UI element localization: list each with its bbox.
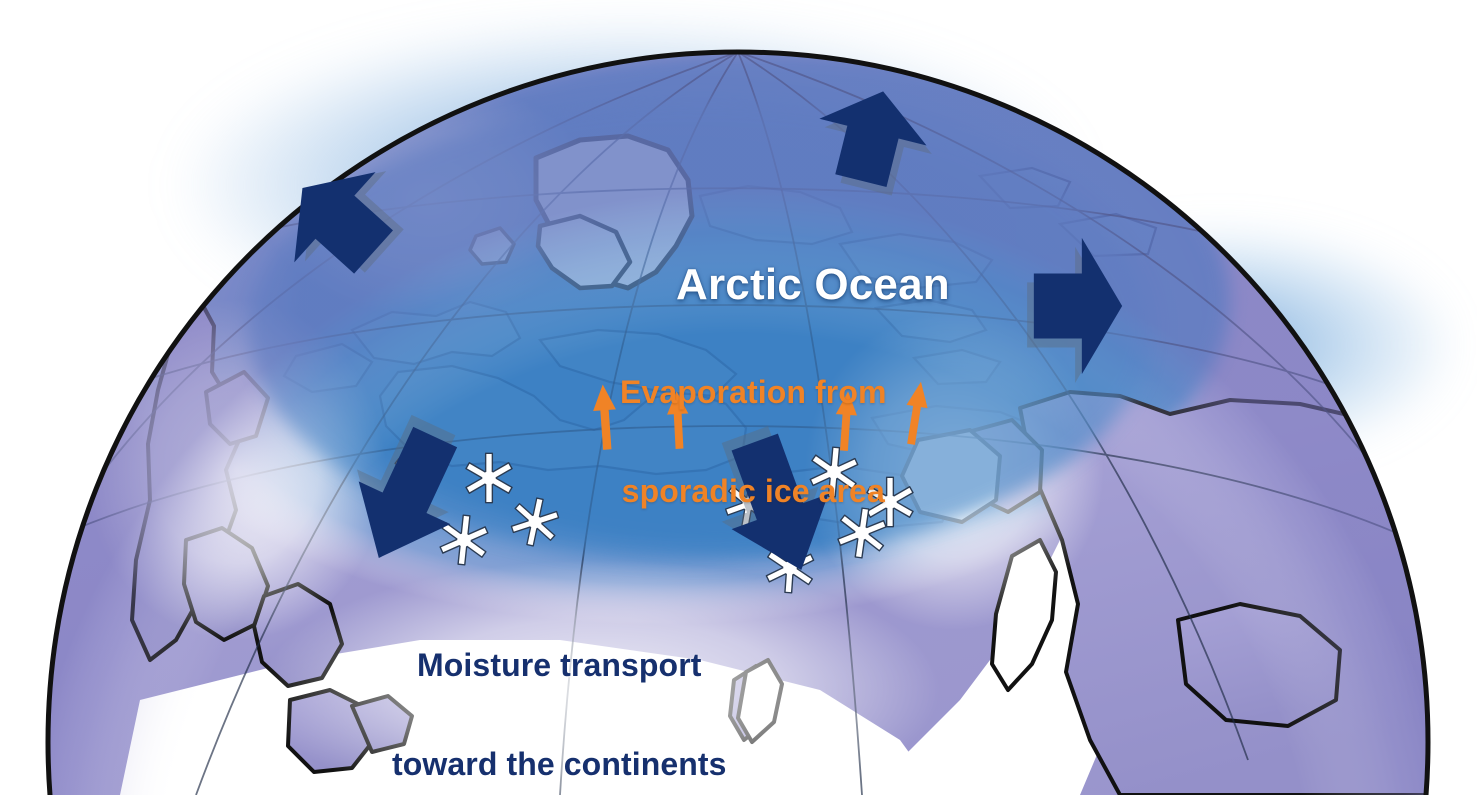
label-arctic-ocean: Arctic Ocean (676, 262, 950, 307)
label-moisture-transport: Moisture transport toward the continents (392, 583, 727, 795)
label-evaporation-line1: Evaporation from (620, 376, 887, 409)
label-evaporation: Evaporation from sporadic ice area (620, 310, 887, 574)
diagram-canvas: Arctic Ocean Evaporation from sporadic i… (0, 0, 1477, 795)
arrow-moisture-transport-west (327, 409, 488, 587)
arrow-outflow-northwest (255, 136, 421, 304)
arrow-outflow-north (802, 73, 943, 199)
arrow-outflow-east (1030, 232, 1126, 380)
arrow-evaporation-4 (897, 378, 935, 448)
arrow-evaporation-1 (588, 382, 623, 452)
label-moisture-line1: Moisture transport (392, 649, 727, 682)
label-evaporation-line2: sporadic ice area (620, 475, 887, 508)
label-moisture-line2: toward the continents (392, 748, 727, 781)
